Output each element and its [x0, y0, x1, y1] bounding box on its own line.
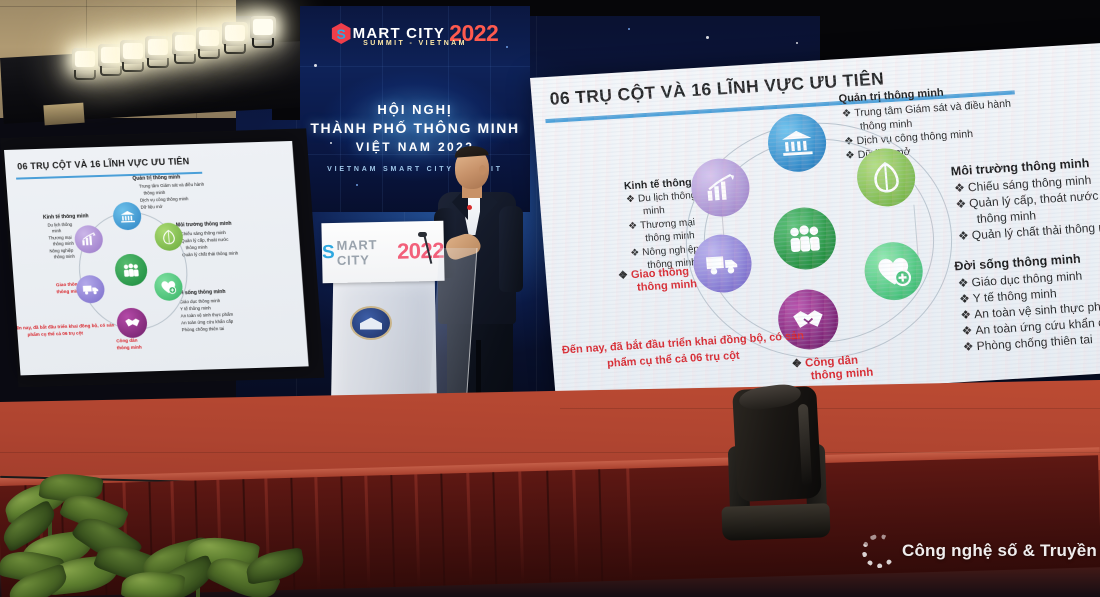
- stage-lamp-6: [196, 27, 222, 51]
- bullet-icon: ❖: [957, 228, 969, 243]
- left-section-item: Phòng chống thiên tai: [181, 326, 224, 332]
- wall-fixture: [43, 103, 84, 126]
- section-item-environment: thông minh: [976, 208, 1036, 226]
- stage-lamp-7: [222, 22, 248, 46]
- stage-lamp-1: [72, 48, 98, 72]
- bullet-icon: ❖: [954, 181, 966, 196]
- slide-footnote-line2: phẩm cụ thể cả 06 trụ cột: [607, 350, 740, 370]
- podium-logo-s: S: [322, 242, 335, 264]
- bullet-icon: ❖: [628, 221, 638, 233]
- speaker-ear: [479, 165, 486, 175]
- section-item-economy: ❖Du lịch thông: [626, 190, 697, 205]
- lamp-yoke-5: [174, 54, 196, 64]
- left-section-item: An toàn vệ sinh thực phẩm: [180, 312, 233, 319]
- speaker-lapel-pin: [467, 205, 472, 210]
- lamp-yoke-6: [198, 49, 220, 59]
- left-section-item: thông minh: [53, 241, 74, 247]
- lamp-yoke-4: [147, 58, 169, 68]
- dotted-circle-icon: [857, 529, 901, 573]
- podium-logo-year: 2022: [397, 238, 444, 265]
- left-section-item: Chiếu sáng thông minh: [180, 230, 226, 236]
- bullet-icon: ❖: [626, 194, 636, 206]
- stage-lamp-4: [145, 36, 171, 60]
- bullet-icon: ❖: [961, 323, 973, 338]
- left-slide-title: 06 TRỤ CỘT VÀ 16 LĨNH VỰC ƯU TIÊN: [17, 156, 190, 171]
- left-footnote-1: Đến nay, đã bắt đầu triển khai đồng bộ, …: [13, 322, 115, 330]
- main-projection-screen: 06 TRỤ CỘT VÀ 16 LĨNH VỰC ƯU TIÊN Quản t…: [530, 43, 1100, 407]
- watermark-text: Công nghệ số & Truyền thông: [902, 541, 1100, 561]
- bullet-icon: ❖: [955, 197, 967, 212]
- left-label-citizen-2: thông minh: [117, 345, 142, 351]
- stage-lamp-8: [250, 16, 276, 40]
- left-section-heading-governance: Quản trị thông minh: [132, 174, 180, 181]
- bullet-icon: ❖: [791, 358, 802, 371]
- bullet-icon: ❖: [962, 339, 974, 354]
- floor-crease: [560, 408, 1100, 409]
- banner-line-1: HỘI NGHỊ: [377, 102, 452, 117]
- watermark: Công nghệ số & Truyền thông: [862, 534, 1100, 568]
- left-section-item: Nông nghiệp: [49, 248, 73, 254]
- bullet-icon: ❖: [630, 248, 640, 260]
- podium-emblem: [350, 306, 392, 340]
- government-building-emblem-icon: [360, 317, 382, 330]
- stage-photo: S MART CITY 2022 SUMMIT - VIETNAM HỘI NG…: [0, 0, 1100, 597]
- left-section-item: Du lịch thông: [47, 222, 72, 228]
- banner-logo-subtitle: SUMMIT - VIETNAM: [363, 40, 467, 47]
- lamp-yoke-8: [252, 38, 274, 48]
- stage-lamp-5: [172, 32, 198, 56]
- podium-sign: S MART CITY 2022: [321, 221, 444, 284]
- left-section-item: minh: [52, 228, 61, 233]
- label-citizen-line2: thông minh: [810, 367, 873, 383]
- left-section-item: thông minh: [54, 254, 75, 260]
- left-section-item: Dịch vụ công thông minh: [140, 196, 189, 203]
- smartcity-hex-s-icon: S: [332, 23, 351, 44]
- label-transport-line2: thông minh: [637, 278, 698, 294]
- left-section-heading-economy: Kinh tế thông minh: [43, 213, 89, 220]
- left-section-item: Quản lý cấp, thoát nước: [181, 237, 229, 243]
- left-section-item: Thương mại: [48, 235, 71, 241]
- left-section-item: Dữ liệu mở: [140, 204, 162, 210]
- left-section-heading-environment: Môi trường thông minh: [176, 221, 232, 229]
- lamp-yoke-3: [122, 62, 144, 72]
- left-section-item: thông minh: [143, 190, 165, 196]
- lamp-yoke-1: [74, 70, 96, 80]
- moving-light-base: [721, 503, 830, 541]
- podium-logo-wordmark: MART CITY: [336, 237, 395, 268]
- left-section-item: Y tế thông minh: [180, 305, 211, 311]
- left-section-item: Giáo dục thông minh: [179, 298, 220, 304]
- left-section-item: thông minh: [185, 245, 207, 251]
- lamp-yoke-2: [100, 66, 122, 76]
- bullet-icon: ❖: [618, 269, 629, 282]
- left-section-item: An toàn ứng cứu khẩn cấp: [181, 319, 233, 326]
- lamp-yoke-7: [224, 44, 246, 54]
- left-footnote-2: phẩm cụ thể cả 06 trụ cột: [27, 330, 83, 337]
- bullet-icon: ❖: [957, 276, 969, 291]
- left-label-citizen-1: Công dân: [116, 338, 138, 344]
- stage-lamp-3: [120, 40, 146, 64]
- microphone-icon: [418, 232, 427, 237]
- banner-line-2: THÀNH PHỐ THÔNG MINH: [310, 120, 519, 136]
- bullet-icon: ❖: [960, 307, 972, 322]
- speaker-arm-right: [499, 206, 523, 292]
- left-projection-screen: 06 TRỤ CỘT VÀ 16 LĨNH VỰC ƯU TIÊN Quản t…: [4, 141, 309, 375]
- event-banner: S MART CITY 2022 SUMMIT - VIETNAM HỘI NG…: [300, 6, 530, 212]
- left-section-item: Quản lý chất thải thông minh: [182, 251, 238, 258]
- bullet-icon: ❖: [959, 292, 971, 307]
- section-item-economy: minh: [643, 205, 666, 217]
- left-section-item: Trung tâm Giám sát và điều hành: [139, 182, 204, 189]
- bullet-icon: ❖: [841, 107, 851, 120]
